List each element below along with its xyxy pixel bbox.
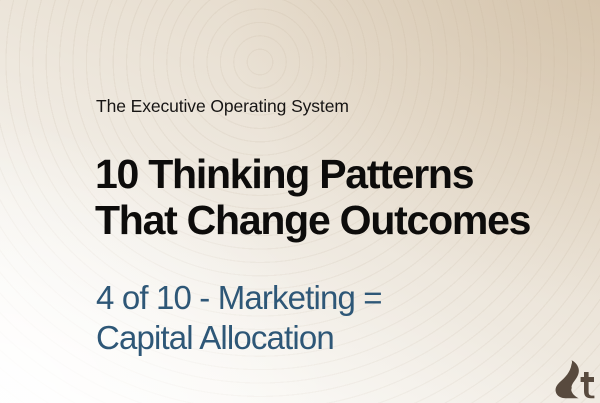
slide-canvas: The Executive Operating System 10 Thinki…: [0, 0, 600, 403]
flame-swoosh-icon: [554, 360, 600, 400]
subheadline: 4 of 10 - Marketing = Capital Allocation: [96, 278, 600, 358]
brand-logo: [554, 360, 600, 400]
page-title: 10 Thinking Patterns That Change Outcome…: [95, 152, 530, 243]
slide-content: The Executive Operating System 10 Thinki…: [0, 0, 600, 403]
eyebrow-label: The Executive Operating System: [96, 96, 349, 117]
